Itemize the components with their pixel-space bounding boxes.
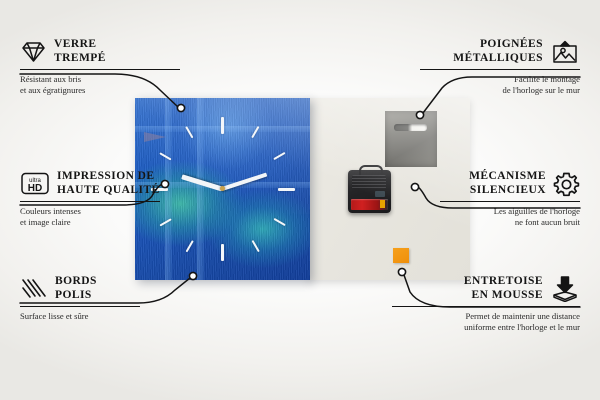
diamond-icon (20, 40, 47, 64)
feature-mecanisme-silencieux: MÉCANISME SILENCIEUX Les aiguilles de l'… (440, 170, 580, 228)
mechanism-chip (375, 191, 385, 197)
clock-tick (273, 217, 285, 226)
feature-desc-1: Résistant aux bris (20, 74, 180, 85)
hanger-slot (394, 124, 427, 131)
feature-title: VERRE TREMPÉ (54, 38, 106, 65)
feature-heading: VERRE TREMPÉ (20, 38, 180, 65)
feature-desc-1: Couleurs intenses (20, 206, 160, 217)
ultra-hd-badge-icon: ultra HD (20, 171, 50, 196)
picture-hanger-icon (550, 39, 580, 65)
feature-desc-2: uniforme entre l'horloge et le mur (392, 322, 580, 333)
battery (351, 199, 388, 210)
foam-spacer (393, 248, 409, 263)
quartz-mechanism-box (348, 170, 391, 213)
clock-tick (251, 239, 260, 251)
mechanism-grill (352, 175, 386, 189)
feature-heading: MÉCANISME SILENCIEUX (440, 170, 580, 197)
feature-rule (440, 201, 580, 202)
feature-heading: POIGNÉES MÉTALLIQUES (420, 38, 580, 65)
product-photo (135, 98, 470, 280)
feature-rule (20, 306, 140, 307)
mechanism-hook (359, 165, 383, 176)
polished-edges-icon (20, 277, 48, 301)
feature-title: ENTRETOISE EN MOUSSE (464, 275, 543, 302)
glass-gloss (135, 98, 310, 214)
feature-heading: ENTRETOISE EN MOUSSE (392, 275, 580, 302)
feature-desc-1: Permet de maintenir une distance (392, 311, 580, 322)
feature-title: POIGNÉES MÉTALLIQUES (453, 38, 543, 65)
feature-title: MÉCANISME SILENCIEUX (469, 170, 546, 197)
feature-heading: ultra HD IMPRESSION DE HAUTE QUALITÉ (20, 170, 160, 197)
glass-clock-face (135, 98, 310, 280)
feature-rule (20, 201, 160, 202)
feature-rule (420, 69, 580, 70)
feature-impression-hd: ultra HD IMPRESSION DE HAUTE QUALITÉ Cou… (20, 170, 160, 228)
feature-entretoise-en-mousse: ENTRETOISE EN MOUSSE Permet de maintenir… (392, 275, 580, 333)
feature-rule (20, 69, 180, 70)
clock-tick (278, 188, 295, 191)
metal-hanger-plate (385, 111, 437, 167)
clock-tick (221, 244, 224, 261)
clock-tick (185, 239, 194, 251)
feature-desc-2: de l'horloge sur le mur (420, 85, 580, 96)
feature-desc-2: et image claire (20, 217, 160, 228)
feature-bords-polis: BORDS POLIS Surface lisse et sûre (20, 275, 140, 322)
feature-heading: BORDS POLIS (20, 275, 140, 302)
feature-desc-1: Surface lisse et sûre (20, 311, 140, 322)
feature-title: BORDS POLIS (55, 275, 97, 302)
feature-poignees-metalliques: POIGNÉES MÉTALLIQUES Facilite le montage… (420, 38, 580, 96)
gear-icon (553, 171, 580, 197)
feature-verre-trempe: VERRE TREMPÉ Résistant aux bris et aux é… (20, 38, 180, 96)
foam-spacer-arrow-icon (550, 275, 580, 302)
feature-desc-1: Facilite le montage (420, 74, 580, 85)
clock-center-cap (220, 186, 225, 191)
svg-text:HD: HD (28, 183, 42, 194)
feature-title: IMPRESSION DE HAUTE QUALITÉ (57, 170, 160, 197)
clock-tick (221, 117, 224, 134)
feature-desc-1: Les aiguilles de l'horloge (440, 206, 580, 217)
infographic-canvas: VERRE TREMPÉ Résistant aux bris et aux é… (0, 0, 600, 400)
feature-desc-2: ne font aucun bruit (440, 217, 580, 228)
feature-rule (392, 306, 580, 307)
feature-desc-2: et aux égratignures (20, 85, 180, 96)
